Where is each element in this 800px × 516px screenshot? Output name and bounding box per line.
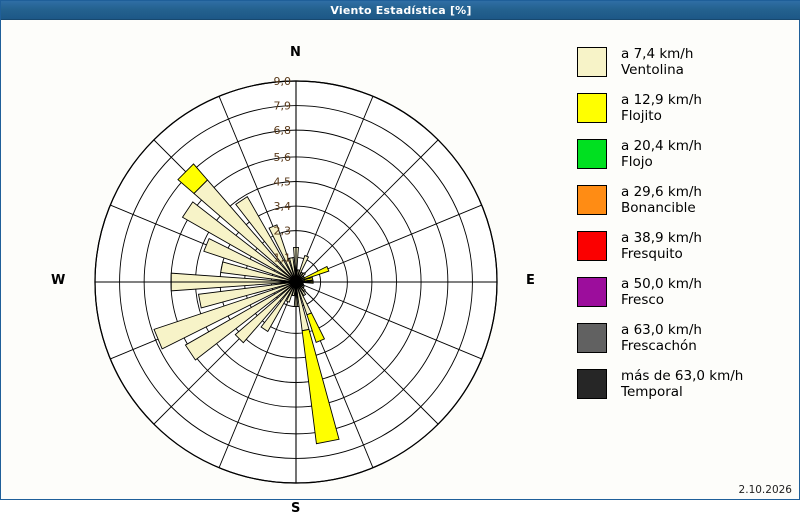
legend-item[interactable]: a 20,4 km/hFlojo (577, 139, 702, 170)
legend-speed-range: a 63,0 km/h (621, 322, 702, 338)
legend-item[interactable]: a 63,0 km/hFrescachón (577, 323, 702, 354)
legend-color-swatch (577, 185, 607, 215)
wind-statistics-window: Viento Estadística [%] 1,12,33,44,55,66,… (0, 0, 800, 500)
svg-text:2,3: 2,3 (274, 225, 292, 238)
legend-speed-range: a 38,9 km/h (621, 230, 702, 246)
legend-item[interactable]: a 29,6 km/hBonancible (577, 185, 702, 216)
wind-rose-svg: 1,12,33,44,55,66,87,99,0 (2, 20, 572, 499)
compass-label-south: S (291, 501, 300, 516)
legend-item[interactable]: más de 63,0 km/hTemporal (577, 369, 743, 400)
legend-category-name: Fresco (621, 293, 702, 309)
window-titlebar: Viento Estadística [%] (1, 1, 800, 20)
legend-item[interactable]: a 7,4 km/hVentolina (577, 47, 693, 78)
svg-text:9,0: 9,0 (274, 75, 292, 88)
compass-label-north: N (290, 45, 301, 60)
svg-text:6,8: 6,8 (274, 124, 292, 137)
legend-category-name: Fresquito (621, 247, 702, 263)
legend-speed-range: más de 63,0 km/h (621, 368, 743, 384)
compass-label-west: W (51, 273, 65, 288)
legend-color-swatch (577, 277, 607, 307)
legend-label: a 29,6 km/hBonancible (621, 185, 702, 216)
legend-color-swatch (577, 139, 607, 169)
legend-item[interactable]: a 38,9 km/hFresquito (577, 231, 702, 262)
svg-text:3,4: 3,4 (274, 200, 292, 213)
legend-speed-range: a 29,6 km/h (621, 184, 702, 200)
chart-panel: 1,12,33,44,55,66,87,99,0 N E S W a 7,4 k… (2, 20, 798, 499)
legend-speed-range: a 12,9 km/h (621, 92, 702, 108)
legend-label: a 50,0 km/hFresco (621, 277, 702, 308)
svg-text:5,6: 5,6 (274, 151, 292, 164)
legend-color-swatch (577, 231, 607, 261)
legend-item[interactable]: a 12,9 km/hFlojito (577, 93, 702, 124)
legend-color-swatch (577, 47, 607, 77)
date-stamp: 2.10.2026 (739, 484, 792, 496)
legend-label: a 12,9 km/hFlojito (621, 93, 702, 124)
svg-text:4,5: 4,5 (274, 176, 292, 189)
legend-color-swatch (577, 323, 607, 353)
legend-category-name: Temporal (621, 385, 743, 401)
compass-label-east: E (526, 273, 535, 288)
legend-label: a 63,0 km/hFrescachón (621, 323, 702, 354)
legend-label: más de 63,0 km/hTemporal (621, 369, 743, 400)
legend-speed-range: a 20,4 km/h (621, 138, 702, 154)
legend-label: a 20,4 km/hFlojo (621, 139, 702, 170)
legend-speed-range: a 50,0 km/h (621, 276, 702, 292)
legend-label: a 38,9 km/hFresquito (621, 231, 702, 262)
legend-color-swatch (577, 93, 607, 123)
svg-text:7,9: 7,9 (274, 100, 292, 113)
legend-item[interactable]: a 50,0 km/hFresco (577, 277, 702, 308)
legend-category-name: Ventolina (621, 63, 693, 79)
wind-speed-legend: a 7,4 km/hVentolinaa 12,9 km/hFlojitoa 2… (577, 20, 798, 499)
window-title: Viento Estadística [%] (330, 4, 471, 17)
wind-rose-chart: 1,12,33,44,55,66,87,99,0 N E S W (2, 20, 572, 499)
legend-category-name: Flojito (621, 109, 702, 125)
legend-category-name: Bonancible (621, 201, 702, 217)
legend-category-name: Frescachón (621, 339, 702, 355)
legend-category-name: Flojo (621, 155, 702, 171)
legend-speed-range: a 7,4 km/h (621, 46, 693, 62)
legend-color-swatch (577, 369, 607, 399)
svg-text:1,1: 1,1 (274, 251, 292, 264)
legend-label: a 7,4 km/hVentolina (621, 47, 693, 78)
